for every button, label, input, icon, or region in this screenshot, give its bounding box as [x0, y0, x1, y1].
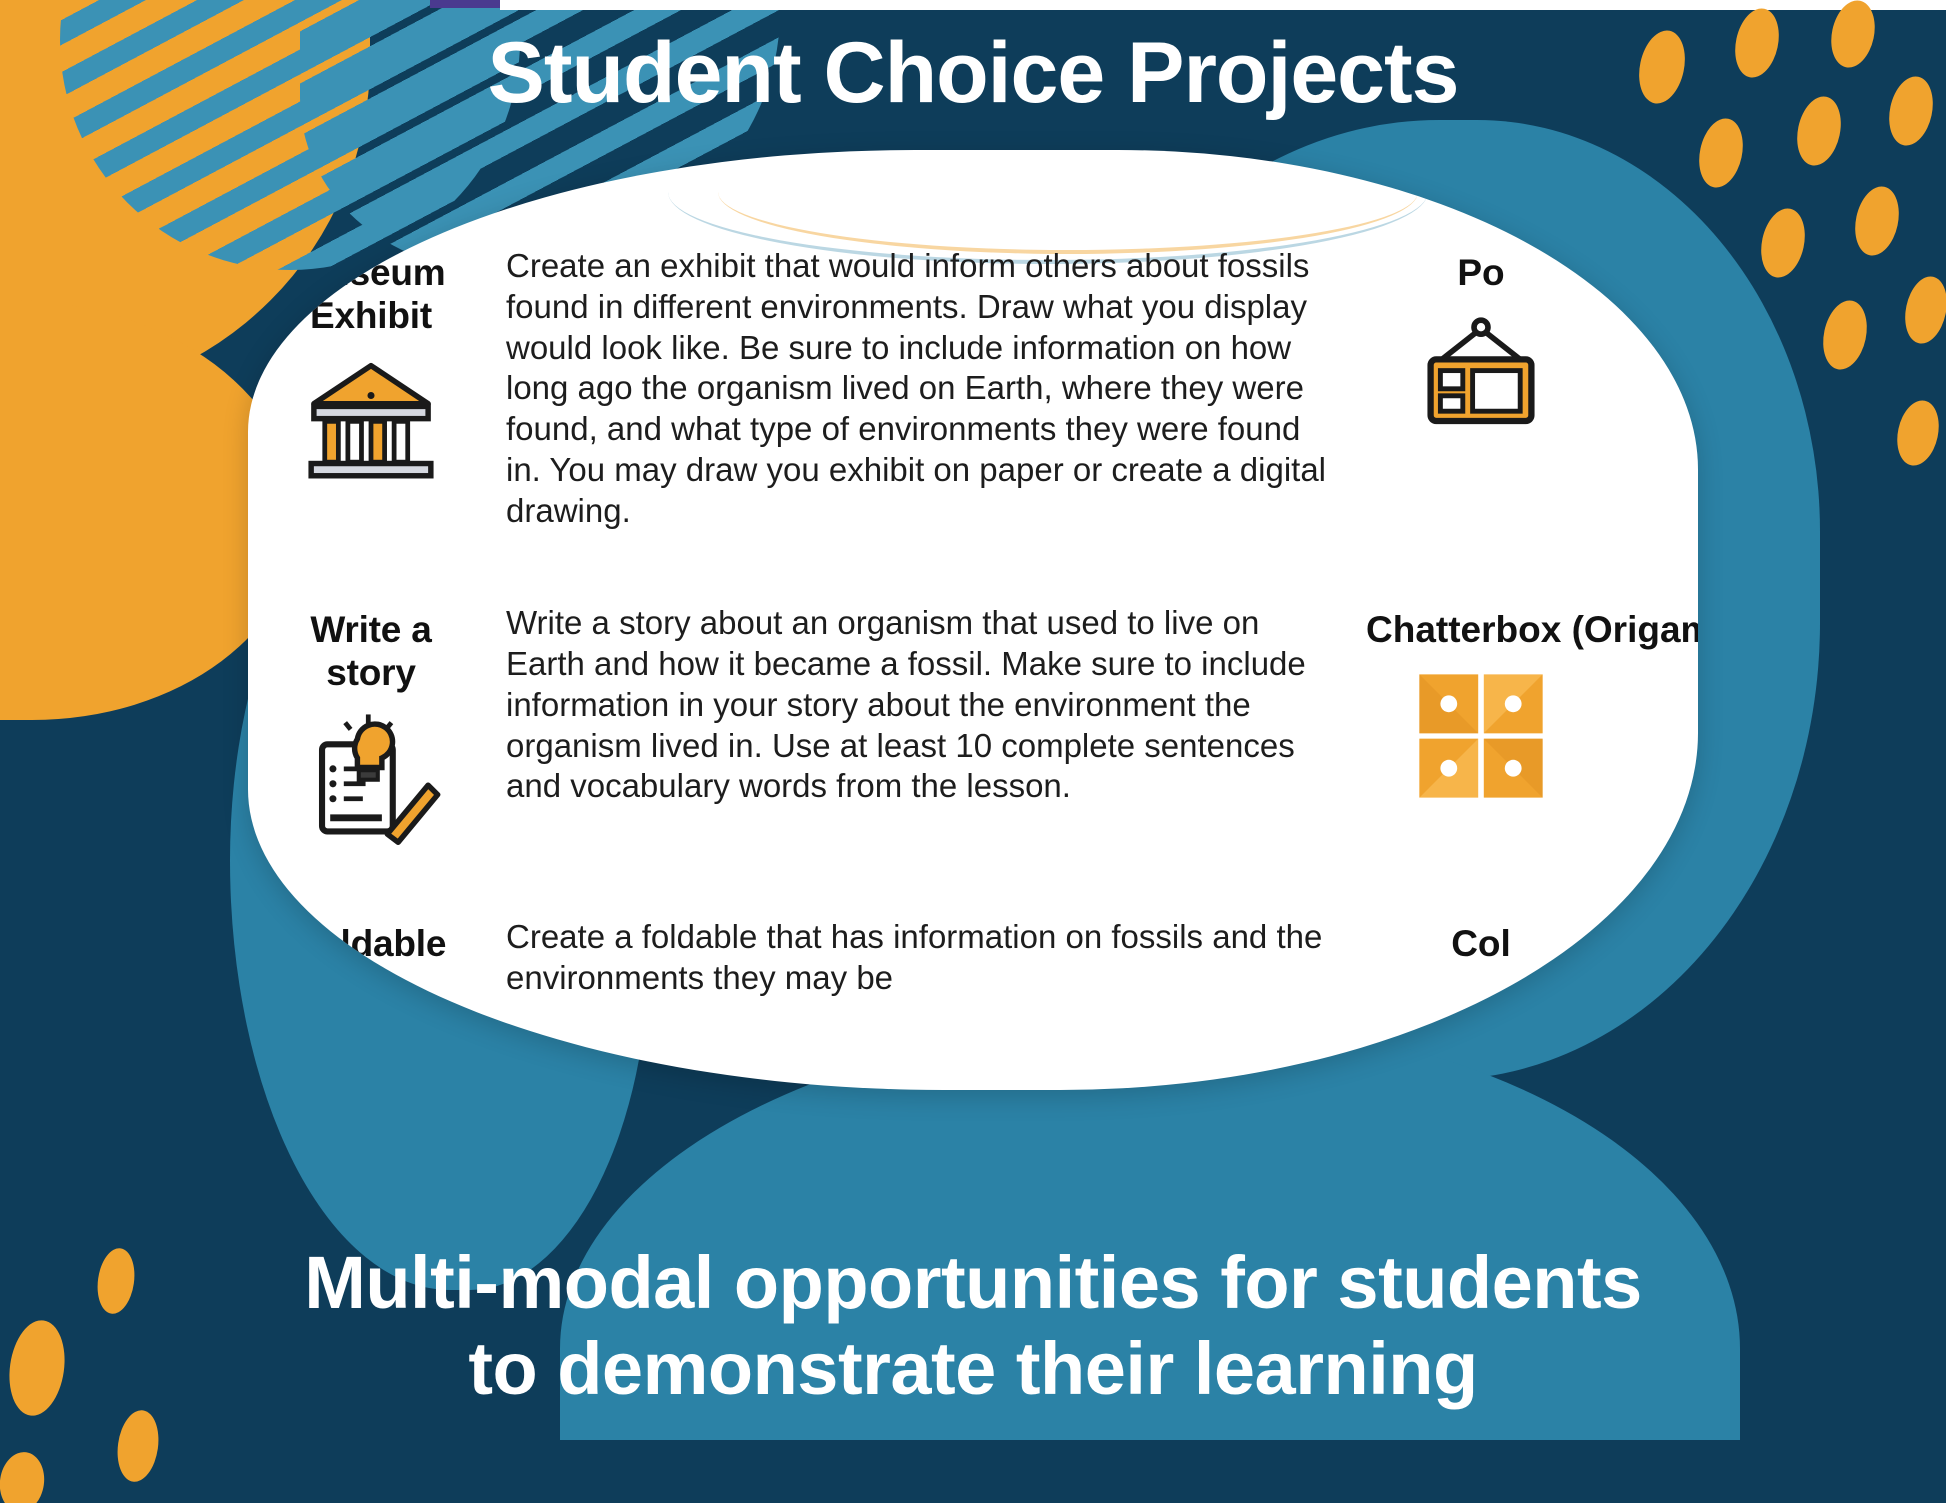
orange-dot — [1849, 182, 1905, 259]
table-row: Museum Exhibit — [266, 246, 1698, 531]
orange-dot — [1755, 204, 1811, 281]
museum-building-icon — [301, 352, 441, 488]
row-description: Create an exhibit that would inform othe… — [476, 246, 1366, 531]
worksheet-table: Museum Exhibit — [266, 246, 1698, 1090]
orange-dot — [1892, 397, 1945, 470]
orange-dot — [1899, 273, 1946, 348]
worksheet-card: Museum Exhibit — [248, 150, 1698, 1090]
caption-line-2: to demonstrate their learning — [0, 1326, 1946, 1412]
orange-dot — [113, 1408, 163, 1485]
slide-canvas: Student Choice Projects Museum Exhibit — [0, 0, 1946, 1503]
row-label: Museum Exhibit — [266, 252, 476, 338]
right-row-label-cell: Po — [1366, 246, 1596, 449]
orange-dot — [0, 1449, 48, 1503]
top-white-bar — [500, 0, 1946, 10]
slide-caption: Multi-modal opportunities for students t… — [0, 1240, 1946, 1412]
table-row: Foldable Create a foldable that has info… — [266, 917, 1698, 1090]
table-row: Write a story — [266, 603, 1698, 845]
row-label: Write a story — [266, 609, 476, 695]
origami-chatterbox-icon — [1406, 666, 1556, 806]
right-row-label: Col — [1366, 923, 1596, 966]
caption-line-1: Multi-modal opportunities for students — [304, 1241, 1642, 1324]
row-label-cell: Museum Exhibit — [266, 246, 476, 488]
orange-dot — [1693, 114, 1749, 191]
right-row-label-cell: Col — [1366, 917, 1596, 966]
row-label: Foldable — [266, 923, 476, 966]
notepad-pencil-lightbulb-icon — [301, 709, 441, 845]
foldable-book-icon — [301, 980, 441, 1090]
top-purple-bar — [430, 0, 500, 8]
poster-board-icon — [1406, 309, 1556, 449]
right-row-label: Chatterbox (Origami) — [1366, 609, 1596, 652]
page-title: Student Choice Projects — [0, 24, 1946, 123]
row-description: Create a foldable that has information o… — [476, 917, 1366, 999]
right-row-label-cell: Chatterbox (Origami) — [1366, 603, 1596, 806]
row-label-cell: Write a story — [266, 603, 476, 845]
orange-dot — [1817, 296, 1873, 373]
row-description: Write a story about an organism that use… — [476, 603, 1366, 807]
row-label-cell: Foldable — [266, 917, 476, 1090]
right-row-label: Po — [1366, 252, 1596, 295]
